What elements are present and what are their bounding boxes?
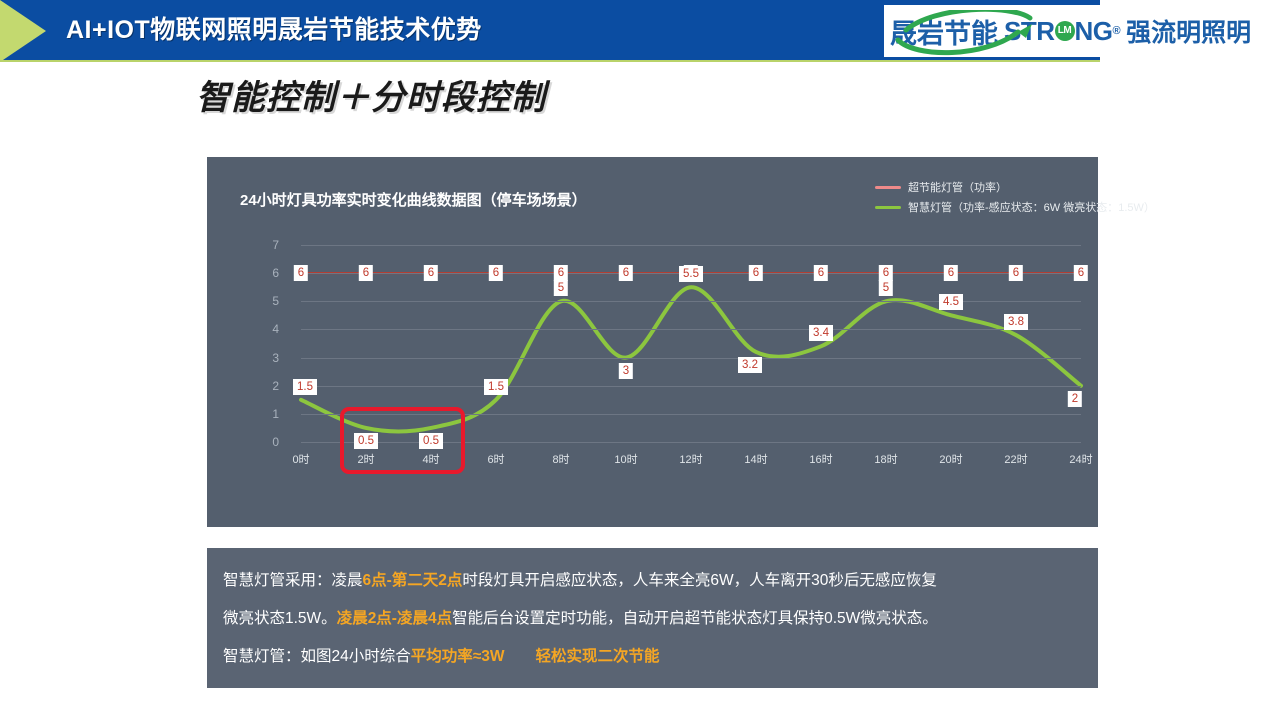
chart-highlight-box [340,407,465,474]
chart-data-label: 6 [1074,265,1088,281]
header-underline [0,60,1280,62]
y-axis-tick-label: 3 [272,351,279,365]
chart-gridline [301,386,1081,387]
company-logo: 晟岩节能 STRLMNG® 强流明照明 [884,5,1280,57]
chart-data-label: 5 [879,280,893,296]
chart-data-label: 6 [489,265,503,281]
note-highlight-text: 凌晨2点-凌晨4点 [337,610,452,627]
logo-strong-prefix: STR [1004,16,1055,47]
chart-legend: 超节能灯管（功率） 智慧灯管（功率-感应状态：6W 微亮状态：1.5W） [875,177,1225,217]
registered-mark: ® [1113,25,1121,37]
legend-swatch-icon [875,206,901,209]
x-axis-tick-label: 14时 [744,451,767,467]
legend-label: 智慧灯管（功率-感应状态：6W 微亮状态：1.5W） [908,199,1155,215]
chart-data-label: 6 [814,265,828,281]
x-axis-tick-label: 12时 [679,451,702,467]
chart-panel: 24小时灯具功率实时变化曲线数据图（停车场场景） 超节能灯管（功率） 智慧灯管（… [207,157,1098,527]
note-highlight-text: 平均功率≈3W [411,648,505,665]
chart-data-label: 6 [944,265,958,281]
logo-brand-cn2: 强流明照明 [1126,13,1251,49]
chart-data-label: 5 [554,280,568,296]
note-text: 微亮状态1.5W。 [223,610,337,627]
legend-item: 智慧灯管（功率-感应状态：6W 微亮状态：1.5W） [875,197,1225,217]
x-axis-tick-label: 18时 [874,451,897,467]
chart-data-label: 6 [879,265,893,281]
chart-data-label: 3.2 [738,357,762,373]
lm-badge-icon: LM [1055,21,1075,41]
slide-subtitle: 智能控制＋分时段控制 [196,70,546,119]
note-line: 智慧灯管：如图24小时综合平均功率≈3W 轻松实现二次节能 [223,638,1082,676]
chart-data-label: 6 [1009,265,1023,281]
x-axis-tick-label: 10时 [614,451,637,467]
note-line: 智慧灯管采用：凌晨6点-第二天2点时段灯具开启感应状态，人车来全亮6W，人车离开… [223,562,1082,600]
chart-data-label: 3.8 [1004,314,1028,330]
note-highlight-text: 6点-第二天2点 [363,572,463,589]
chart-data-label: 6 [749,265,763,281]
chart-data-label: 3 [619,363,633,379]
y-axis-tick-label: 4 [272,322,279,336]
y-axis-tick-label: 5 [272,294,279,308]
note-highlight-text: 轻松实现二次节能 [536,648,660,665]
x-axis-tick-label: 24时 [1069,451,1092,467]
explanation-note: 智慧灯管采用：凌晨6点-第二天2点时段灯具开启感应状态，人车来全亮6W，人车离开… [207,548,1098,688]
logo-strong-suffix: NG [1075,16,1113,47]
chart-data-label: 4.5 [939,294,963,310]
y-axis-tick-label: 7 [272,238,279,252]
chart-data-label: 6 [294,265,308,281]
chart-gridline [301,301,1081,302]
chart-data-label: 5.5 [679,266,703,282]
note-text [505,648,536,665]
chart-data-label: 6 [554,265,568,281]
chart-data-label: 1.5 [484,379,508,395]
chart-gridline [301,329,1081,330]
x-axis-tick-label: 16时 [809,451,832,467]
y-axis-tick-label: 1 [272,407,279,421]
note-text: 智慧灯管采用：凌晨 [223,572,363,589]
chart-gridline [301,245,1081,246]
chart-plot-area: 012345670时2时4时6时8时10时12时14时16时18时20时22时2… [271,245,1081,442]
note-text: 智能后台设置定时功能，自动开启超节能状态灯具保持0.5W微亮状态。 [452,610,938,627]
chart-data-label: 6 [424,265,438,281]
page-title: AI+IOT物联网照明晟岩节能技术优势 [66,11,482,49]
logo-brand-cn: 晟岩节能 [890,12,998,51]
chart-data-label: 6 [619,265,633,281]
note-text: 时段灯具开启感应状态，人车来全亮6W，人车离开30秒后无感应恢复 [462,572,937,589]
legend-swatch-icon [875,186,901,189]
x-axis-tick-label: 22时 [1004,451,1027,467]
x-axis-tick-label: 0时 [292,451,309,467]
note-text: 智慧灯管：如图24小时综合 [223,648,411,665]
x-axis-tick-label: 8时 [552,451,569,467]
chart-data-label: 3.4 [809,325,833,341]
x-axis-tick-label: 6时 [487,451,504,467]
chart-data-label: 2 [1068,391,1082,407]
legend-label: 超节能灯管（功率） [908,179,1007,195]
chart-title: 24小时灯具功率实时变化曲线数据图（停车场场景） [240,189,587,210]
logo-brand-en: STRLMNG® [1004,16,1120,47]
y-axis-tick-label: 2 [272,379,279,393]
y-axis-tick-label: 6 [272,266,279,280]
note-line: 微亮状态1.5W。凌晨2点-凌晨4点智能后台设置定时功能，自动开启超节能状态灯具… [223,600,1082,638]
legend-item: 超节能灯管（功率） [875,177,1225,197]
chart-gridline [301,358,1081,359]
slide-root: AI+IOT物联网照明晟岩节能技术优势 晟岩节能 STRLMNG® 强流明照明 … [0,0,1280,720]
chart-data-label: 1.5 [293,379,317,395]
chart-data-label: 6 [359,265,373,281]
logo-brand-cn-text: 晟岩节能 [890,19,998,49]
x-axis-tick-label: 20时 [939,451,962,467]
y-axis-tick-label: 0 [272,435,279,449]
